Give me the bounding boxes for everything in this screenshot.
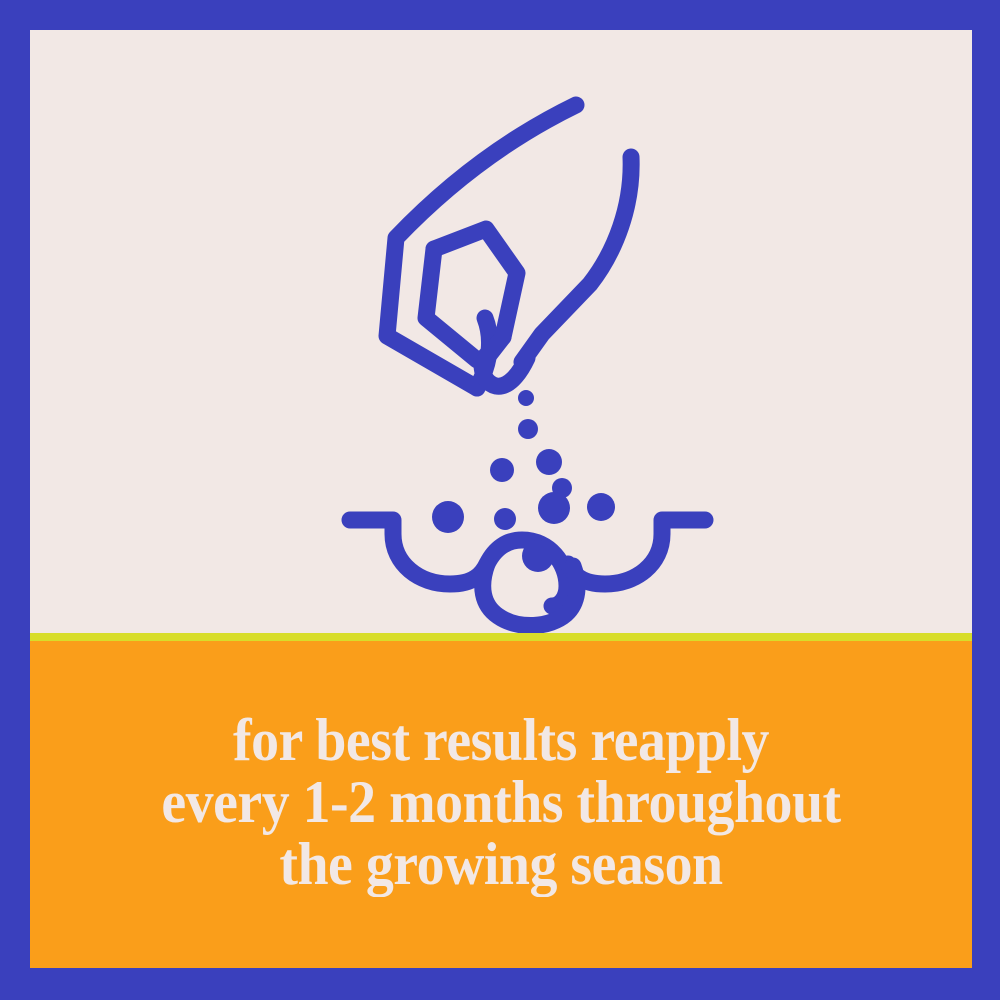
- granule-8: [587, 493, 615, 521]
- caption-panel: for best results reapply every 1-2 month…: [30, 641, 972, 968]
- instruction-card: for best results reapply every 1-2 month…: [0, 0, 1000, 1000]
- granule-2: [536, 449, 562, 475]
- hand-sprinkling-fertilizer-icon: [30, 30, 972, 633]
- granule-3: [490, 458, 514, 482]
- inner-finger-fold: [426, 249, 477, 360]
- granule-9: [522, 540, 554, 572]
- card-inner-panel: for best results reapply every 1-2 month…: [30, 30, 972, 968]
- granule-7: [538, 492, 570, 524]
- caption-line-1: for best results reapply: [63, 709, 939, 771]
- granule-5: [432, 501, 464, 533]
- caption-text: for best results reapply every 1-2 month…: [63, 709, 939, 901]
- granule-1: [518, 419, 538, 439]
- illustration-panel: [30, 30, 972, 633]
- caption-line-2: every 1-2 months throughout: [63, 771, 939, 833]
- caption-line-3: the growing season: [63, 833, 939, 895]
- divider-rule: [30, 633, 972, 641]
- granule-10: [518, 390, 534, 406]
- thumb-outline: [522, 157, 631, 362]
- granule-6: [494, 508, 516, 530]
- soil-line-right: [568, 520, 705, 584]
